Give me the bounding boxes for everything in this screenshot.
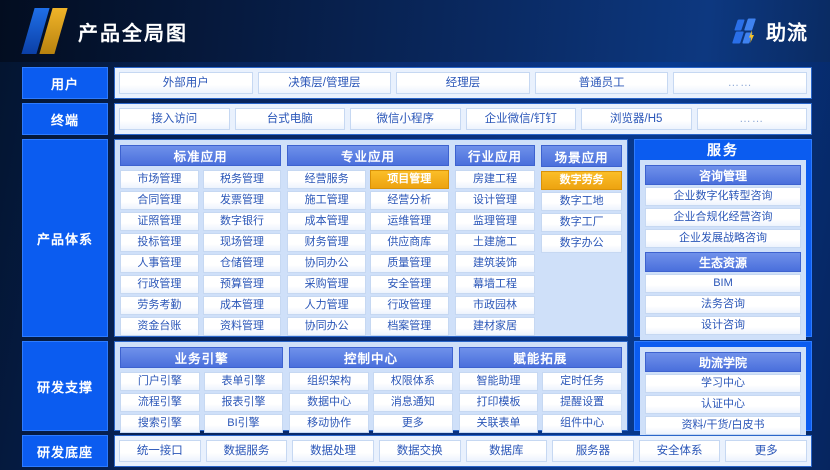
app-chip[interactable]: 财务管理	[287, 233, 366, 252]
rnd-base-item[interactable]: 数据库	[466, 440, 548, 462]
app-chip[interactable]: 资金台账	[120, 317, 199, 336]
rnd-base-item[interactable]: 数据交换	[379, 440, 461, 462]
app-chip[interactable]: 质量管理	[370, 254, 449, 273]
row-rnd-support: 研发支撑 业务引擎门户引擎表单引擎流程引擎报表引擎搜索引擎BI引擎控制中心组织架…	[22, 341, 812, 431]
rnd-chip[interactable]: 消息通知	[373, 393, 453, 412]
rnd-category: 赋能拓展智能助理定时任务打印模板提醒设置关联表单组件中心	[459, 347, 622, 425]
row-user: 用户 外部用户决策层/管理层经理层普通员工……	[22, 67, 812, 99]
product-category: 场景应用数字劳务数字工地数字工厂数字办公	[541, 145, 622, 331]
app-chip[interactable]: 协同办公	[287, 317, 366, 336]
user-items: 外部用户决策层/管理层经理层普通员工……	[114, 67, 812, 99]
app-chip[interactable]: 人力管理	[287, 296, 366, 315]
terminal-item[interactable]: 浏览器/H5	[581, 108, 692, 130]
category-items: 房建工程设计管理监理管理土建施工建筑装饰幕墙工程市政园林建材家居	[455, 170, 536, 336]
service-group-header: 咨询管理	[645, 165, 801, 185]
rnd-chip[interactable]: BI引擎	[204, 414, 284, 433]
row-label-rnd-base: 研发底座	[22, 435, 108, 467]
app-chip[interactable]: 数字工厂	[541, 213, 622, 232]
rnd-chip[interactable]: 权限体系	[373, 372, 453, 391]
user-item[interactable]: ……	[673, 72, 807, 94]
academy-panel: 助流学院学习中心认证中心资料/干货/白皮书	[634, 341, 812, 431]
app-chip[interactable]: 供应商库	[370, 233, 449, 252]
service-panel-title: 服务	[635, 140, 811, 160]
rnd-base-item[interactable]: 更多	[725, 440, 807, 462]
app-chip[interactable]: 数字办公	[541, 234, 622, 253]
app-chip[interactable]: 现场管理	[203, 233, 282, 252]
rnd-category: 业务引擎门户引擎表单引擎流程引擎报表引擎搜索引擎BI引擎	[120, 347, 283, 425]
service-item[interactable]: 企业发展战略咨询	[645, 229, 801, 248]
app-chip[interactable]: 投标管理	[120, 233, 199, 252]
rnd-category-grid: 业务引擎门户引擎表单引擎流程引擎报表引擎搜索引擎BI引擎控制中心组织架构权限体系…	[114, 341, 628, 431]
app-chip[interactable]: 资料管理	[203, 317, 282, 336]
rnd-base-item[interactable]: 数据处理	[292, 440, 374, 462]
app-chip[interactable]: 采购管理	[287, 275, 366, 294]
service-group: 咨询管理企业数字化转型咨询企业合规化经营咨询企业发展战略咨询	[645, 165, 801, 248]
rnd-category-header: 业务引擎	[120, 347, 283, 368]
terminal-item[interactable]: ……	[697, 108, 808, 130]
academy-items: 助流学院学习中心认证中心资料/干货/白皮书	[640, 347, 806, 440]
product-map-page: 产品全局图 助流 用户 外部用户决策层/管理层经理层普通员工…… 终端 接入访问…	[0, 0, 830, 470]
rnd-chip[interactable]: 关联表单	[459, 414, 539, 433]
app-chip[interactable]: 幕墙工程	[455, 275, 536, 294]
row-rnd-base: 研发底座 统一接口数据服务数据处理数据交换数据库服务器安全体系更多	[22, 435, 812, 467]
rnd-base-item[interactable]: 统一接口	[119, 440, 201, 462]
academy-item[interactable]: 资料/干货/白皮书	[645, 416, 801, 435]
brand-logo: 助流	[734, 17, 808, 46]
app-chip[interactable]: 经营服务	[287, 170, 366, 189]
product-system-content: 标准应用市场管理税务管理合同管理发票管理证照管理数字银行投标管理现场管理人事管理…	[114, 139, 812, 337]
rnd-chip[interactable]: 数据中心	[289, 393, 369, 412]
service-group: 生态资源BIM法务咨询设计咨询	[645, 252, 801, 335]
user-item[interactable]: 普通员工	[535, 72, 669, 94]
app-chip[interactable]: 房建工程	[455, 170, 536, 189]
app-chip[interactable]: 劳务考勤	[120, 296, 199, 315]
academy-item[interactable]: 学习中心	[645, 374, 801, 393]
rnd-category-items: 门户引擎表单引擎流程引擎报表引擎搜索引擎BI引擎	[120, 372, 283, 433]
brand-name: 助流	[766, 17, 808, 46]
app-chip[interactable]: 建筑装饰	[455, 254, 536, 273]
app-chip[interactable]: 数字工地	[541, 192, 622, 211]
category-header: 标准应用	[120, 145, 281, 166]
category-header: 场景应用	[541, 145, 622, 167]
app-chip[interactable]: 经营分析	[370, 191, 449, 210]
rnd-chip[interactable]: 移动协作	[289, 414, 369, 433]
rnd-chip[interactable]: 表单引擎	[204, 372, 284, 391]
category-items: 市场管理税务管理合同管理发票管理证照管理数字银行投标管理现场管理人事管理仓储管理…	[120, 170, 281, 336]
app-chip[interactable]: 施工管理	[287, 191, 366, 210]
category-items: 数字劳务数字工地数字工厂数字办公	[541, 171, 622, 331]
rnd-chip[interactable]: 组件中心	[542, 414, 622, 433]
rnd-category-header: 控制中心	[289, 347, 452, 368]
rnd-chip[interactable]: 报表引擎	[204, 393, 284, 412]
app-chip[interactable]: 人事管理	[120, 254, 199, 273]
category-items: 经营服务项目管理施工管理经营分析成本管理运维管理财务管理供应商库协同办公质量管理…	[287, 170, 448, 336]
app-chip[interactable]: 建材家居	[455, 317, 536, 336]
row-label-user: 用户	[22, 67, 108, 99]
terminal-item[interactable]: 微信小程序	[350, 108, 461, 130]
app-chip[interactable]: 项目管理	[370, 170, 449, 189]
rnd-base-item[interactable]: 安全体系	[639, 440, 721, 462]
rnd-chip[interactable]: 更多	[373, 414, 453, 433]
rnd-category-items: 智能助理定时任务打印模板提醒设置关联表单组件中心	[459, 372, 622, 433]
service-item[interactable]: 法务咨询	[645, 295, 801, 314]
service-groups: 咨询管理企业数字化转型咨询企业合规化经营咨询企业发展战略咨询生态资源BIM法务咨…	[640, 160, 806, 340]
app-chip[interactable]: 数字劳务	[541, 171, 622, 190]
user-item[interactable]: 外部用户	[119, 72, 253, 94]
rnd-chip[interactable]: 智能助理	[459, 372, 539, 391]
rnd-category-items: 组织架构权限体系数据中心消息通知移动协作更多	[289, 372, 452, 433]
rnd-base-item[interactable]: 数据服务	[206, 440, 288, 462]
service-group-header: 生态资源	[645, 252, 801, 272]
row-label-rnd-support: 研发支撑	[22, 341, 108, 431]
product-category: 行业应用房建工程设计管理监理管理土建施工建筑装饰幕墙工程市政园林建材家居	[455, 145, 536, 331]
app-chip[interactable]: 市政园林	[455, 296, 536, 315]
rnd-chip[interactable]: 门户引擎	[120, 372, 200, 391]
app-chip[interactable]: 证照管理	[120, 212, 199, 231]
rnd-chip[interactable]: 定时任务	[542, 372, 622, 391]
academy-item[interactable]: 认证中心	[645, 395, 801, 414]
product-category-grid: 标准应用市场管理税务管理合同管理发票管理证照管理数字银行投标管理现场管理人事管理…	[114, 139, 628, 337]
row-product-system: 产品体系 标准应用市场管理税务管理合同管理发票管理证照管理数字银行投标管理现场管…	[22, 139, 812, 337]
rnd-chip[interactable]: 组织架构	[289, 372, 369, 391]
rnd-base-items: 统一接口数据服务数据处理数据交换数据库服务器安全体系更多	[114, 435, 812, 467]
rnd-chip[interactable]: 搜索引擎	[120, 414, 200, 433]
category-header: 行业应用	[455, 145, 536, 166]
page-title: 产品全局图	[78, 17, 188, 46]
app-chip[interactable]: 仓储管理	[203, 254, 282, 273]
app-chip[interactable]: 运维管理	[370, 212, 449, 231]
terminal-item[interactable]: 企业微信/钉钉	[466, 108, 577, 130]
terminal-item[interactable]: 接入访问	[119, 108, 230, 130]
rnd-category: 控制中心组织架构权限体系数据中心消息通知移动协作更多	[289, 347, 452, 425]
app-chip[interactable]: 合同管理	[120, 191, 199, 210]
rnd-chip[interactable]: 流程引擎	[120, 393, 200, 412]
app-chip[interactable]: 监理管理	[455, 212, 536, 231]
rnd-chip[interactable]: 打印模板	[459, 393, 539, 412]
category-header: 专业应用	[287, 145, 448, 166]
diagram-body: 用户 外部用户决策层/管理层经理层普通员工…… 终端 接入访问台式电脑微信小程序…	[0, 62, 830, 470]
app-chip[interactable]: 市场管理	[120, 170, 199, 189]
rnd-chip[interactable]: 提醒设置	[542, 393, 622, 412]
academy-header: 助流学院	[645, 352, 801, 372]
terminal-items: 接入访问台式电脑微信小程序企业微信/钉钉浏览器/H5……	[114, 103, 812, 135]
service-item[interactable]: 企业数字化转型咨询	[645, 187, 801, 206]
app-chip[interactable]: 行政管理	[120, 275, 199, 294]
app-chip[interactable]: 预算管理	[203, 275, 282, 294]
rnd-base-item[interactable]: 服务器	[552, 440, 634, 462]
product-category: 专业应用经营服务项目管理施工管理经营分析成本管理运维管理财务管理供应商库协同办公…	[287, 145, 448, 331]
product-category: 标准应用市场管理税务管理合同管理发票管理证照管理数字银行投标管理现场管理人事管理…	[120, 145, 281, 331]
service-item[interactable]: 企业合规化经营咨询	[645, 208, 801, 227]
rnd-category-header: 赋能拓展	[459, 347, 622, 368]
row-label-product-system: 产品体系	[22, 139, 108, 337]
header-decoration	[22, 0, 82, 62]
user-item[interactable]: 决策层/管理层	[258, 72, 392, 94]
row-label-terminal: 终端	[22, 103, 108, 135]
app-chip[interactable]: 成本管理	[287, 212, 366, 231]
rnd-support-content: 业务引擎门户引擎表单引擎流程引擎报表引擎搜索引擎BI引擎控制中心组织架构权限体系…	[114, 341, 812, 431]
app-chip[interactable]: 税务管理	[203, 170, 282, 189]
app-chip[interactable]: 安全管理	[370, 275, 449, 294]
app-chip[interactable]: 土建施工	[455, 233, 536, 252]
terminal-item[interactable]: 台式电脑	[235, 108, 346, 130]
service-item[interactable]: BIM	[645, 274, 801, 293]
row-terminal: 终端 接入访问台式电脑微信小程序企业微信/钉钉浏览器/H5……	[22, 103, 812, 135]
app-chip[interactable]: 成本管理	[203, 296, 282, 315]
app-chip[interactable]: 协同办公	[287, 254, 366, 273]
app-chip[interactable]: 设计管理	[455, 191, 536, 210]
app-chip[interactable]: 数字银行	[203, 212, 282, 231]
service-item[interactable]: 设计咨询	[645, 316, 801, 335]
app-chip[interactable]: 发票管理	[203, 191, 282, 210]
user-item[interactable]: 经理层	[396, 72, 530, 94]
zhuliu-lightning-logo-icon	[734, 18, 760, 44]
app-chip[interactable]: 行政管理	[370, 296, 449, 315]
service-panel: 服务 咨询管理企业数字化转型咨询企业合规化经营咨询企业发展战略咨询生态资源BIM…	[634, 139, 812, 337]
page-header: 产品全局图 助流	[0, 0, 830, 62]
app-chip[interactable]: 档案管理	[370, 317, 449, 336]
